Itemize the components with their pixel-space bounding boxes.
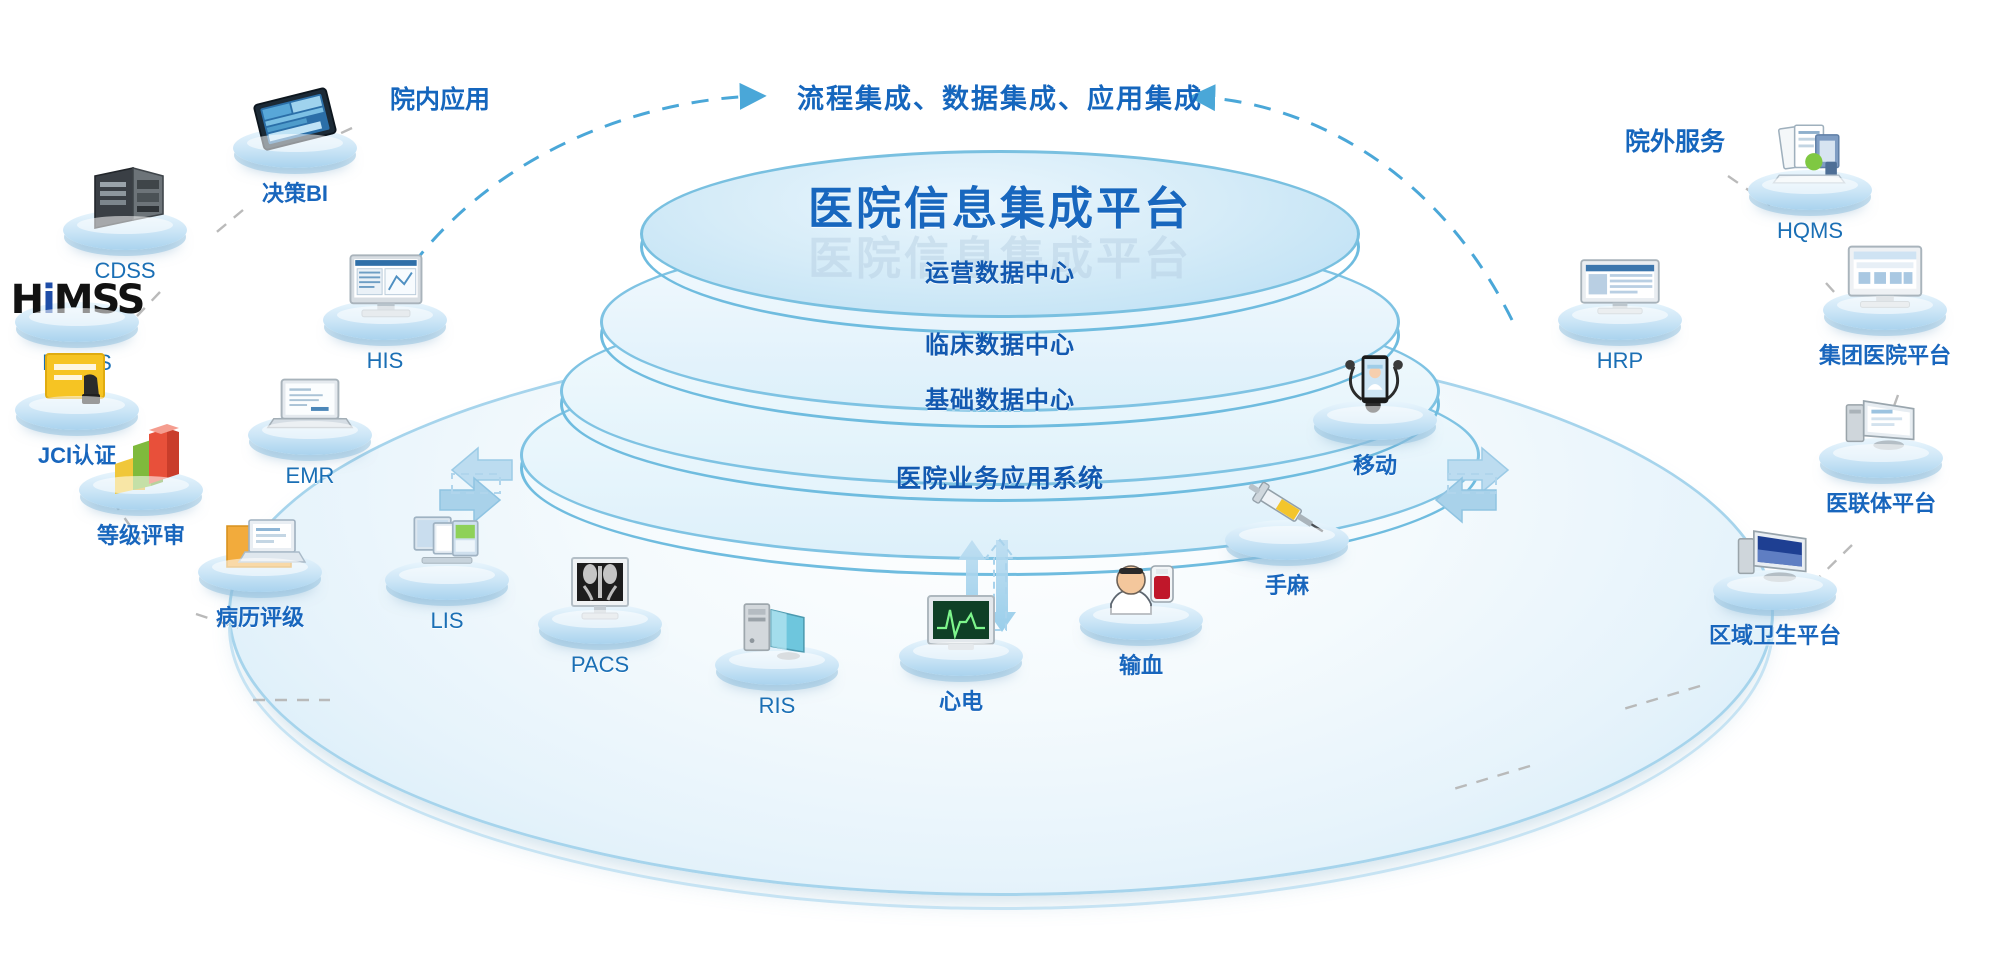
group-label-out-hospital: 院外服务 [1625, 122, 1725, 158]
podium [198, 552, 322, 592]
node-label: 医联体平台 [1786, 486, 1976, 518]
node-hrp[interactable]: HRP [1525, 300, 1715, 374]
node-label: 手麻 [1192, 568, 1382, 600]
podium [1819, 438, 1943, 478]
node-label: 决策BI [200, 176, 390, 208]
podium [1225, 520, 1349, 560]
blood-bag-doctor-icon [1093, 546, 1189, 624]
podium [1713, 570, 1837, 610]
group-label-in-hospital: 院内应用 [390, 80, 490, 116]
node-label: 集团医院平台 [1790, 338, 1980, 370]
node-label: 心电 [866, 684, 1056, 716]
node-label: PACS [505, 652, 695, 678]
server-rack-icon [77, 156, 173, 234]
node-medical-union[interactable]: 医联体平台 [1786, 438, 1976, 518]
podium [63, 210, 187, 250]
podium [899, 636, 1023, 676]
node-label: EMR [215, 463, 405, 489]
podium [1823, 290, 1947, 330]
laptop-icon [262, 361, 358, 439]
podium [79, 470, 203, 510]
podium [248, 415, 372, 455]
node-hqms[interactable]: HQMS [1715, 170, 1905, 244]
podium [385, 560, 509, 600]
node-label: 等级评审 [46, 518, 236, 550]
lab-monitors-icon [399, 506, 495, 584]
node-label: RIS [682, 693, 872, 719]
podium [1748, 170, 1872, 210]
desktop-tower-icon [1833, 384, 1929, 462]
node-regional-health[interactable]: 区域卫生平台 [1680, 570, 1870, 650]
bar-blocks-icon [93, 416, 189, 494]
node-mobile[interactable]: 移动 [1280, 400, 1470, 480]
folder-laptop-icon [212, 498, 308, 576]
node-ecg[interactable]: 心电 [866, 636, 1056, 716]
node-ris[interactable]: RIS [682, 645, 872, 719]
node-group-hospital[interactable]: 集团医院平台 [1790, 290, 1980, 370]
himss-logo-icon: HiMSS [29, 248, 125, 326]
crt-monitor-icon [1837, 236, 1933, 314]
podium [323, 300, 447, 340]
documents-folder-icon [1762, 116, 1858, 194]
podium [538, 604, 662, 644]
node-grade-review[interactable]: 等级评审 [46, 470, 236, 550]
desktop-monitor-icon [337, 246, 433, 324]
node-label: 移动 [1280, 448, 1470, 480]
podium [1558, 300, 1682, 340]
xray-monitor-icon [552, 550, 648, 628]
node-label: 病历评级 [165, 600, 355, 632]
diagram-canvas: 医院信息集成平台 医院信息集成平台 运营数据中心 临床数据中心 基础数据中心 医… [0, 0, 2000, 955]
node-bi[interactable]: 决策BI [200, 128, 390, 208]
widescreen-monitor-icon [1572, 246, 1668, 324]
tablet-dashboard-icon [247, 74, 343, 152]
node-emr[interactable]: EMR [215, 415, 405, 489]
node-anesthesia[interactable]: 手麻 [1192, 520, 1382, 600]
node-emr-rating[interactable]: 病历评级 [165, 552, 355, 632]
certificate-seal-icon [29, 336, 125, 414]
node-label: 区域卫生平台 [1680, 618, 1870, 650]
podium [233, 128, 357, 168]
tower-monitor-icon [729, 591, 825, 669]
phone-stethoscope-icon [1327, 346, 1423, 424]
ecg-monitor-icon [913, 582, 1009, 660]
blue-monitor-icon [1727, 516, 1823, 594]
node-label: HRP [1525, 348, 1715, 374]
node-label: 输血 [1046, 648, 1236, 680]
node-blood[interactable]: 输血 [1046, 600, 1236, 680]
podium [1313, 400, 1437, 440]
layer-label-operational: 运营数据中心 [0, 253, 2000, 288]
node-pacs[interactable]: PACS [505, 604, 695, 678]
podium [1079, 600, 1203, 640]
podium [715, 645, 839, 685]
